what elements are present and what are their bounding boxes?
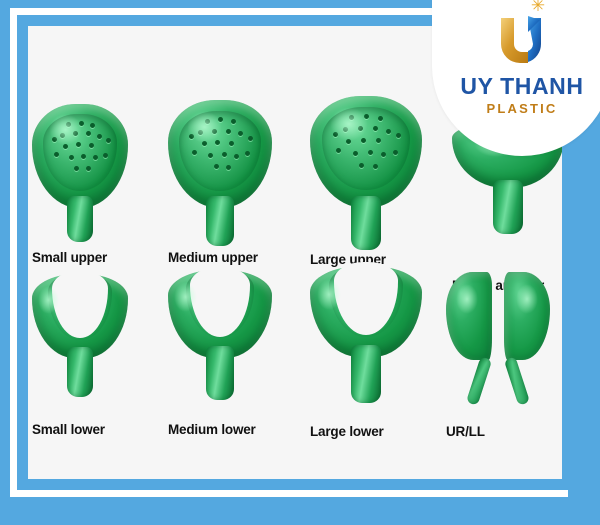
letter-u-icon: [495, 14, 549, 64]
product-label: Medium lower: [168, 422, 272, 437]
product-item-small-upper[interactable]: Small upper: [32, 104, 128, 244]
product-item-large-upper[interactable]: Large upper: [310, 96, 422, 248]
product-label: Medium upper: [168, 250, 272, 265]
product-item-small-lower[interactable]: Small lower: [32, 274, 128, 414]
product-label: Small upper: [32, 250, 128, 265]
frame-bar-bottom: [0, 500, 600, 525]
product-item-ur-ll[interactable]: UR/LL: [446, 272, 550, 420]
product-item-large-lower[interactable]: Large lower: [310, 266, 422, 418]
star-icon: ✳: [530, 0, 546, 14]
brand-name: UY THANH: [460, 73, 583, 100]
product-label: Large lower: [310, 424, 422, 439]
logo-mark: ✳: [489, 8, 555, 68]
product-label: Small lower: [32, 422, 128, 437]
product-item-medium-upper[interactable]: Medium upper: [168, 100, 272, 246]
product-label: UR/LL: [446, 424, 550, 439]
brand-subtitle: PLASTIC: [486, 101, 557, 116]
product-item-medium-lower[interactable]: Medium lower: [168, 270, 272, 416]
frame-bar-left: [0, 0, 10, 525]
